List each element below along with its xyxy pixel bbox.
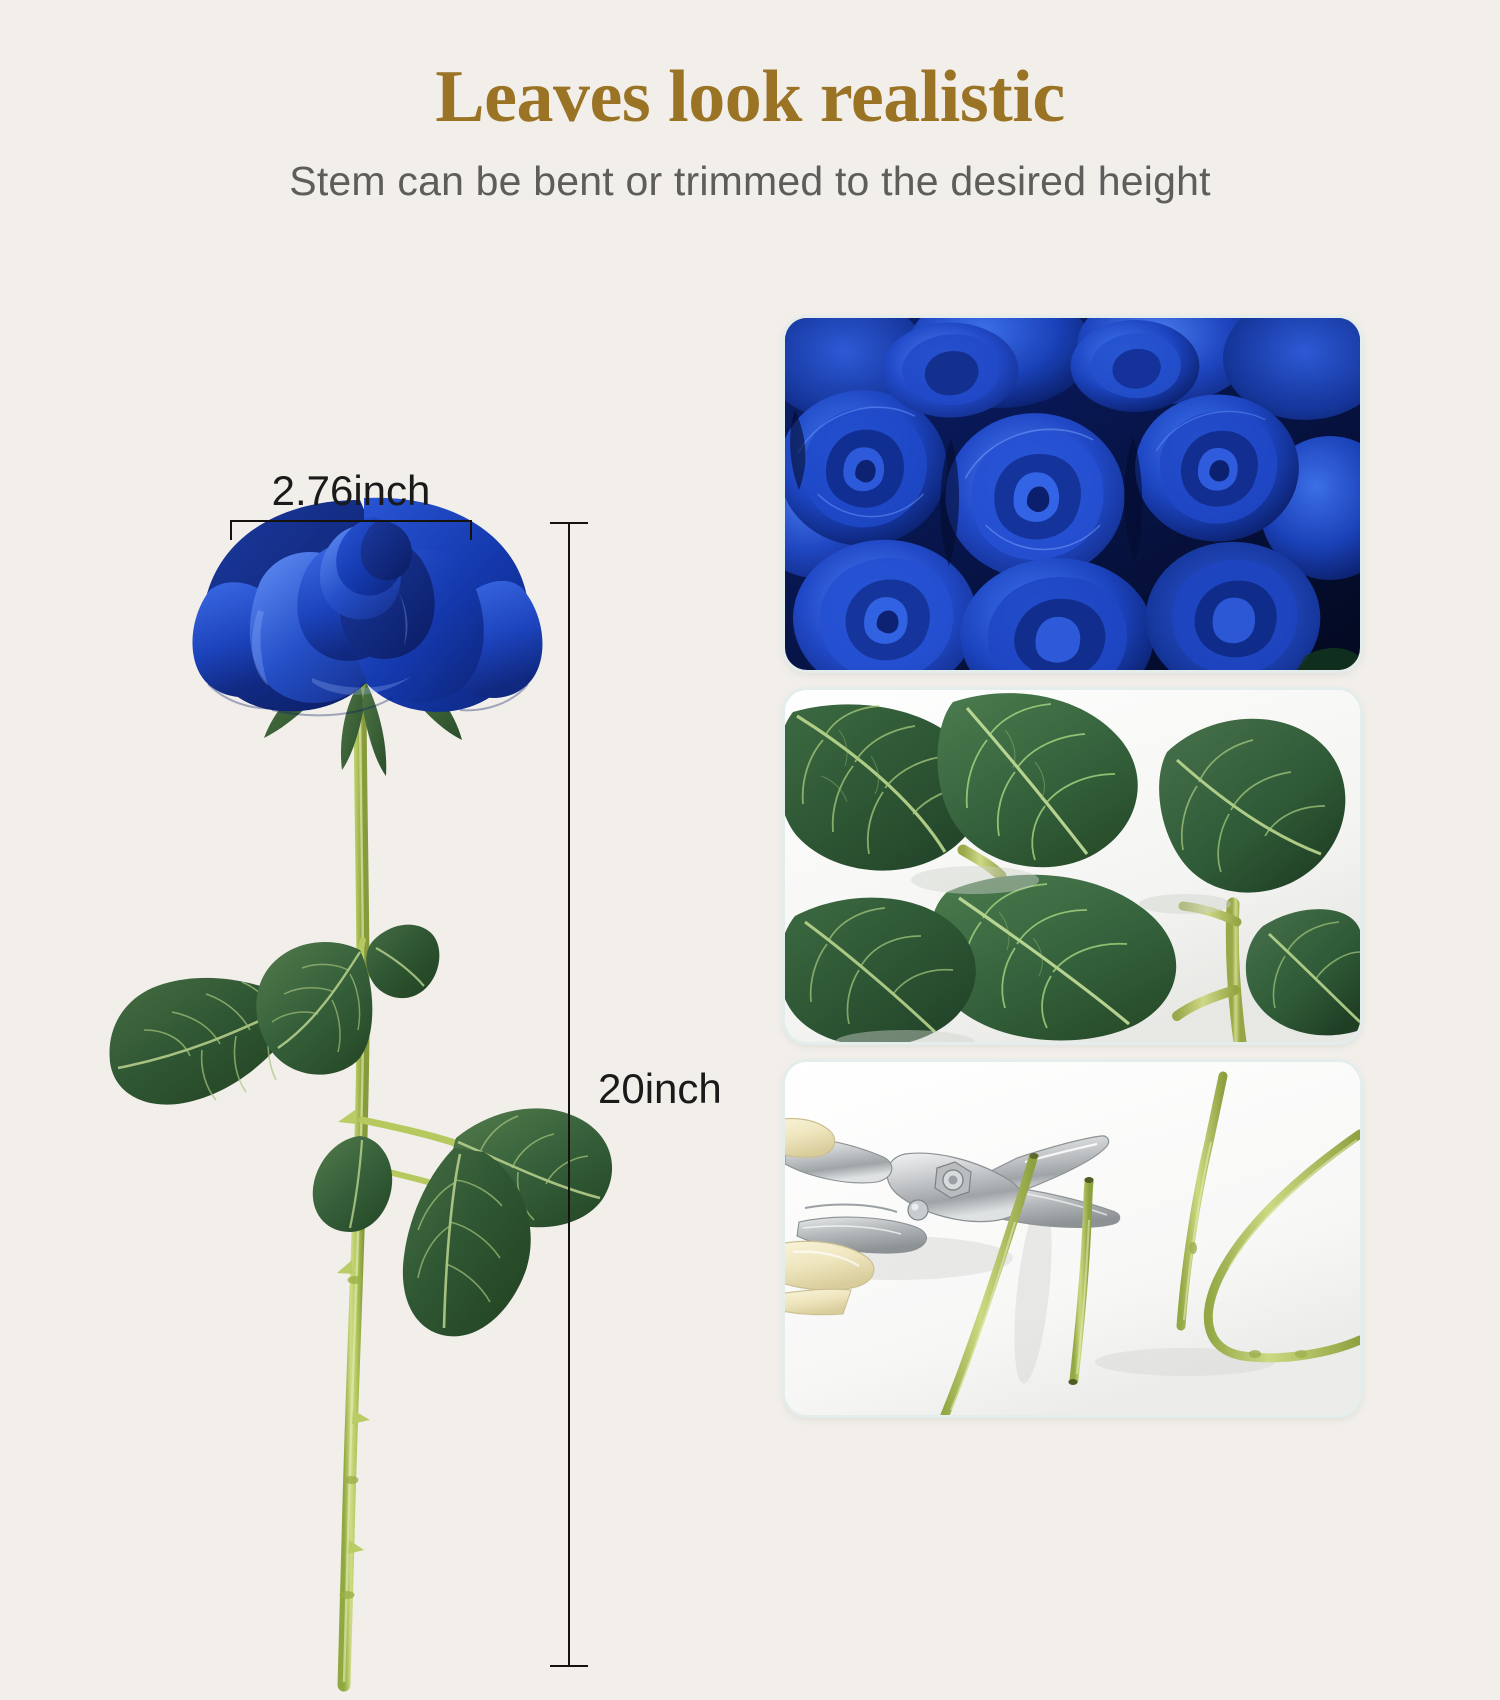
leaf-cluster-lower: [109, 925, 439, 1105]
header: Leaves look realistic Stem can be bent o…: [0, 0, 1500, 220]
leaf: [366, 925, 439, 999]
width-cap-right: [470, 520, 472, 540]
photo-panel-leaves: [785, 690, 1360, 1042]
photo-panel-stem-trimming: [785, 1062, 1360, 1415]
page-subtitle: Stem can be bent or trimmed to the desir…: [0, 134, 1500, 202]
blue-roses-photo: [785, 318, 1360, 670]
height-cap-bottom: [550, 1665, 588, 1667]
photo-panel-blue-roses: [785, 318, 1360, 670]
height-dimension-label: 20inch: [598, 1068, 722, 1110]
page-title: Leaves look realistic: [0, 0, 1500, 134]
green-leaves-photo: [785, 690, 1360, 1042]
stem-trimming-photo: [785, 1062, 1360, 1415]
width-dimension-label: 2.76inch: [230, 470, 472, 512]
height-dimension-line: [568, 522, 570, 1667]
height-cap-top: [550, 522, 588, 524]
rose-bloom: [192, 498, 542, 716]
flower-measurement-area: 2.76inch 20inch: [0, 230, 760, 1500]
width-dimension-line: [230, 520, 472, 522]
width-cap-left: [230, 520, 232, 540]
